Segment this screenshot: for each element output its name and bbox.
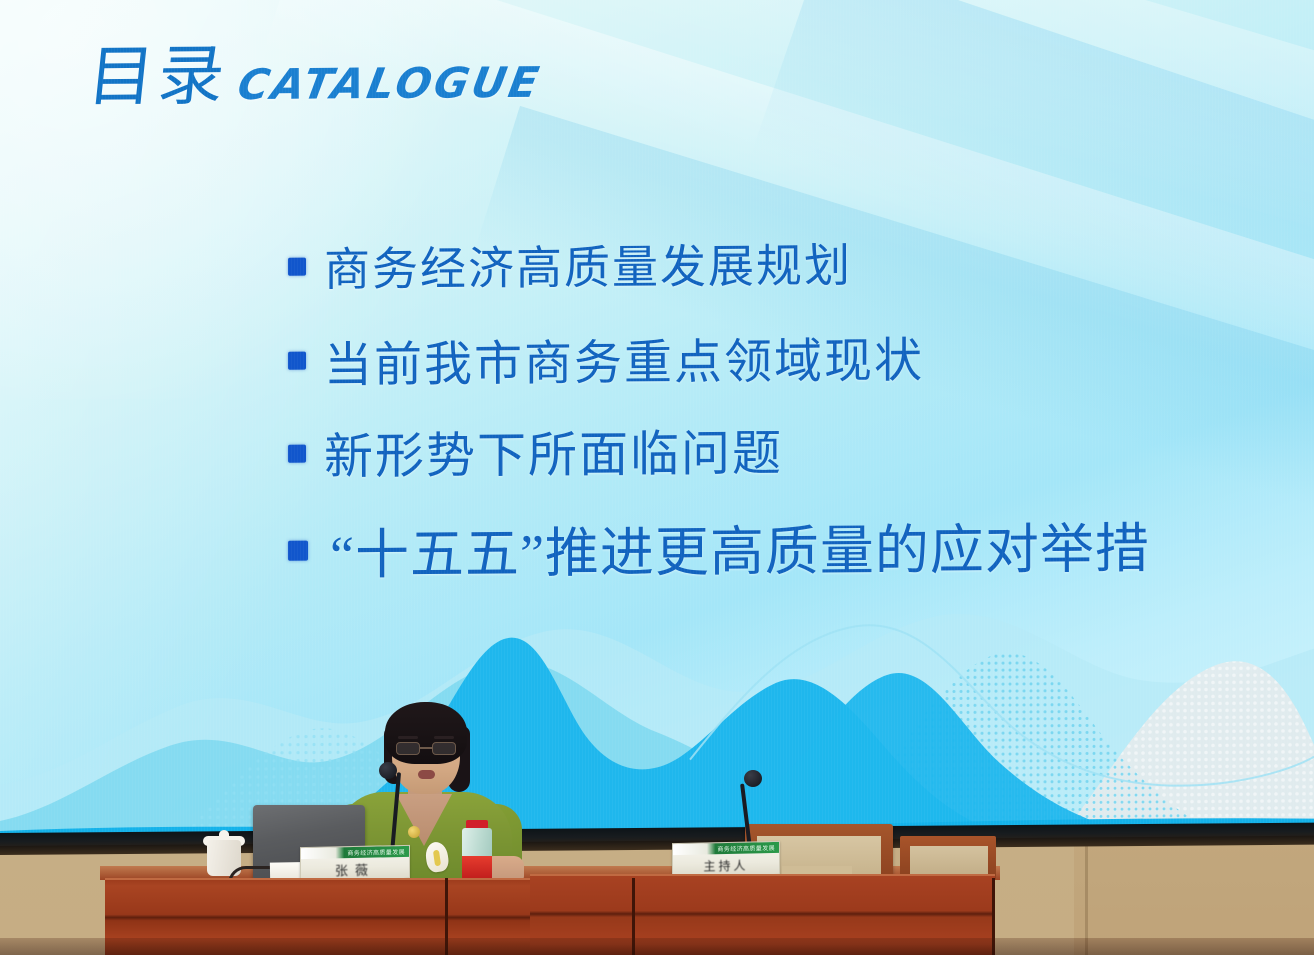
eyeglasses-icon	[396, 742, 456, 755]
speaker-eyebrow-right	[434, 736, 454, 739]
screenshot-stage: 目录 CATALOGUE 商务经济高质量发展规划 当前我市商务重点领域现状 新形…	[0, 0, 1314, 955]
dais-lower-shadow	[0, 938, 1314, 955]
eyeglass-lens-right	[432, 742, 456, 755]
microphone-moderator-head-icon	[744, 770, 762, 787]
slide-surface: 目录 CATALOGUE 商务经济高质量发展规划 当前我市商务重点领域现状 新形…	[0, 0, 1314, 845]
speaker-mouth	[418, 770, 435, 779]
nameplate-speaker: 商务经济高质量发展 张薇	[300, 845, 410, 881]
nameplate-speaker-header-label: 商务经济高质量发展	[347, 847, 409, 857]
projection-screen: 目录 CATALOGUE 商务经济高质量发展规划 当前我市商务重点领域现状 新形…	[0, 0, 1314, 845]
eyeglass-bridge	[420, 747, 432, 749]
lapel-badge-icon	[408, 826, 420, 838]
screen-pixel-texture	[0, 0, 1314, 845]
water-bottle-label	[462, 856, 492, 878]
microphone-speaker-head-icon	[379, 762, 397, 779]
nameplate-moderator: 商务经济高质量发展 主持人	[672, 841, 780, 877]
speaker-eyebrow-left	[398, 736, 418, 739]
eyeglass-lens-left	[396, 742, 420, 755]
nameplate-moderator-header-label: 商务经济高质量发展	[717, 843, 779, 853]
